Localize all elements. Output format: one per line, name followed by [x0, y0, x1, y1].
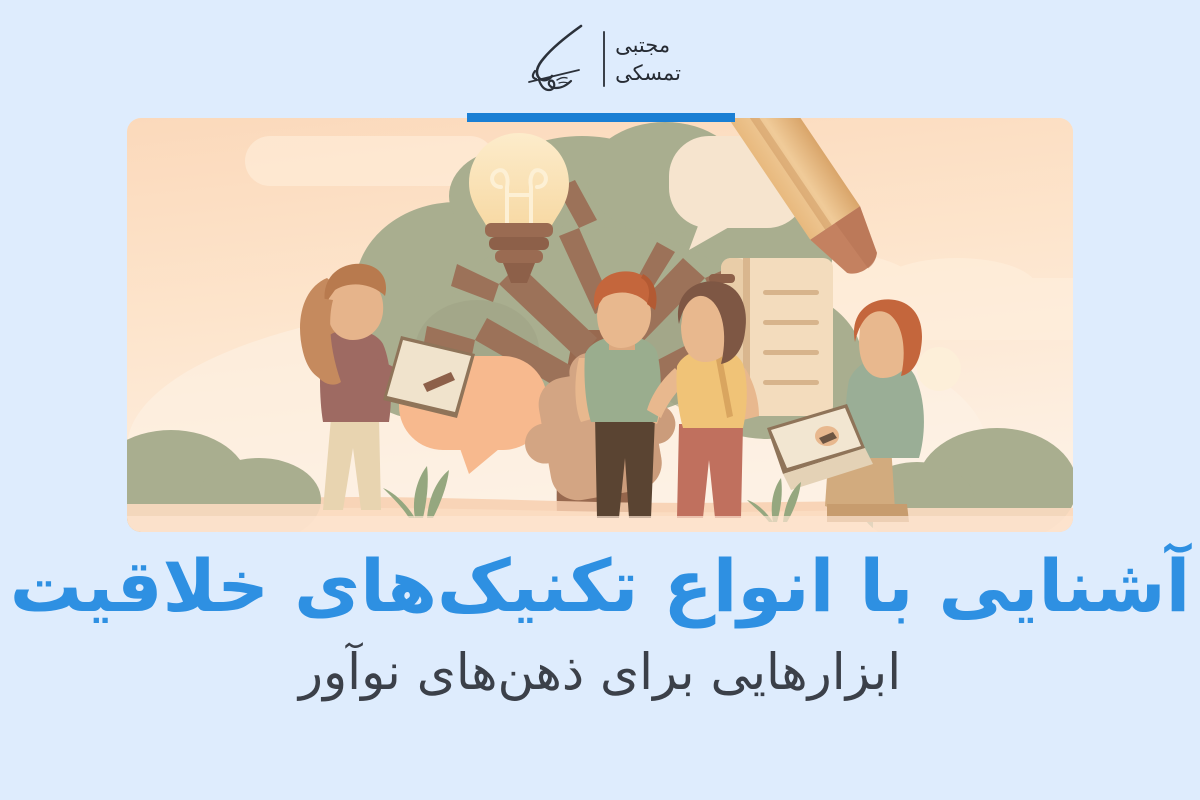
- brand-wordmark: مجتبی تمسکی: [615, 32, 681, 87]
- brand-line-2: تمسکی: [615, 60, 681, 86]
- vertical-divider-icon: [603, 31, 605, 87]
- headings-block: آشنایی با انواع تکنیک‌های خلاقیت ابزارها…: [0, 548, 1200, 702]
- sun-dot: [917, 347, 961, 391]
- creativity-tree-illustration: [127, 118, 1073, 532]
- illustration-card: [127, 118, 1073, 532]
- brand-logo[interactable]: مجتبی تمسکی: [0, 14, 1200, 104]
- pen-signature-icon: [519, 20, 593, 98]
- page-subtitle: ابزارهایی برای ذهن‌های نوآور: [0, 642, 1200, 702]
- cover-page: مجتبی تمسکی: [0, 0, 1200, 800]
- accent-bar: [467, 113, 735, 122]
- brand-line-1: مجتبی: [615, 32, 670, 58]
- page-title: آشنایی با انواع تکنیک‌های خلاقیت: [0, 548, 1200, 626]
